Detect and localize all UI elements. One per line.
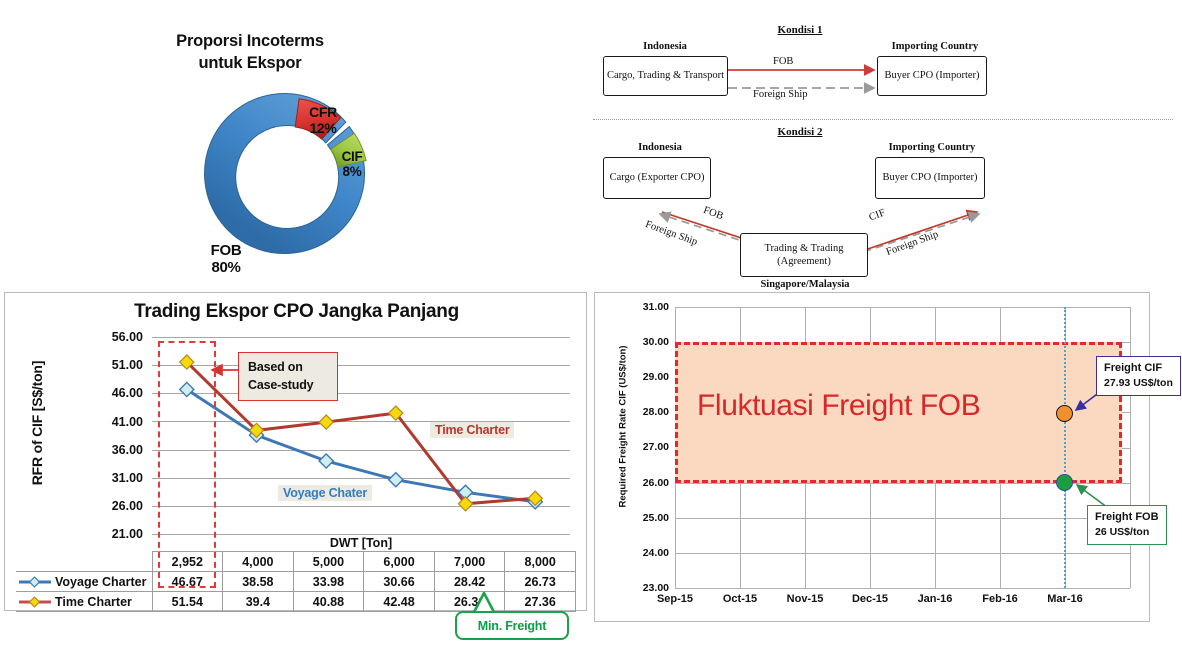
fr-x-tick-jan16: Jan-16 [900,593,970,605]
min-freight-callout: Min. Freight [455,611,569,640]
table-cell: 30.66 [364,572,435,592]
table-header-cell: 5,000 [293,552,364,572]
freight-cif-callout-title: Freight CIF [1104,361,1173,376]
table-cell: 46.67 [152,572,223,592]
table-cell: 39.4 [223,592,294,612]
donut-label-cfr-text: CFR [309,104,337,120]
table-cell: 42.48 [364,592,435,612]
time-charter-tag: Time Charter [430,422,514,438]
freight-callout-arrows [675,307,1130,588]
kondisi2-left-caption: Indonesia [585,142,735,153]
case-study-annotation: Based on Case-study [238,352,338,401]
line-chart-y-axis-title: RFR of CIF [S$/ton] [29,343,45,503]
y-tick-51: 51.00 [85,358,143,372]
y-tick-41: 41.00 [85,415,143,429]
y-tick-56: 56.00 [85,330,143,344]
donut-title-line1: Proporsi Incoterms [176,32,324,50]
diagram-divider [593,119,1173,120]
legend-label: Time Charter [55,595,132,609]
fr-y-tick-25: 25.00 [621,512,669,524]
table-cell: 33.98 [293,572,364,592]
table-header-cell: 2,952 [152,552,223,572]
fr-y-tick-26: 26.00 [621,477,669,489]
table-corner-cell [16,552,152,572]
donut-label-fob-pct: 80% [211,259,240,276]
table-cell: 38.58 [223,572,294,592]
y-tick-46: 46.00 [85,386,143,400]
donut-label-cif-pct: 8% [343,164,362,179]
y-tick-31: 31.00 [85,471,143,485]
legend-voyage-charter: Voyage Charter [16,572,152,592]
y-tick-26: 26.00 [85,499,143,513]
fr-x-tick-oct15: Oct-15 [705,593,775,605]
incoterm-diagram-panel: Kondisi 1 Indonesia Cargo, Trading & Tra… [585,0,1182,296]
y-tick-36: 36.00 [85,443,143,457]
table-header-cell: 6,000 [364,552,435,572]
fr-y-tick-27: 27.00 [621,441,669,453]
freight-chart-y-axis-title: Required Freight Rate CIF (US$/ton) [618,317,629,537]
fr-y-tick-31: 31.00 [621,301,669,313]
kondisi2-left-box: Cargo (Exporter CPO) [603,157,711,199]
donut-label-cif-text: CIF [342,149,363,164]
freight-cif-callout-value: 27.93 US$/ton [1104,376,1173,390]
donut-title-line2: untuk Ekspor [198,54,301,72]
table-cell: 27.36 [505,592,576,612]
fr-x-tick-mar16: Mar-16 [1030,593,1100,605]
freight-chart-plot-area: Fluktuasi Freight FOB [675,307,1130,588]
slide-canvas: Proporsi Incoterms untuk Ekspor [0,0,1182,665]
legend-time-charter: Time Charter [16,592,152,612]
donut-chart-panel: Proporsi Incoterms untuk Ekspor [0,0,585,285]
voyage-charter-tag: Voyage Chater [278,485,372,501]
donut-label-cif: CIF 8% [329,149,375,179]
freight-fob-callout-title: Freight FOB [1095,510,1159,525]
donut-title: Proporsi Incoterms untuk Ekspor [0,30,500,75]
time-charter-legend-icon [18,596,52,608]
y-tick-21: 21.00 [85,527,143,541]
donut-label-cfr: CFR 12% [296,105,350,136]
kondisi2-mid-caption: Singapore/Malaysia [730,279,880,290]
fr-y-tick-29: 29.00 [621,371,669,383]
kondisi1-ship-label: Foreign Ship [753,89,808,100]
donut-label-cfr-pct: 12% [309,120,336,136]
line-chart-x-axis-title: DWT [Ton] [152,536,570,550]
fr-x-tick-sep15: Sep-15 [640,593,710,605]
fr-y-tick-30: 30.00 [621,336,669,348]
kondisi2-mid-box: Trading & Trading (Agreement) [740,233,868,277]
legend-label: Voyage Charter [55,575,146,589]
kondisi2-title: Kondisi 2 [745,126,855,138]
line-chart-title: Trading Ekspor CPO Jangka Panjang [5,301,588,323]
fr-y-tick-28: 28.00 [621,406,669,418]
fr-gridline-v [1130,307,1131,588]
table-row: Voyage Charter 46.67 38.58 33.98 30.66 2… [16,572,576,592]
fr-x-tick-dec15: Dec-15 [835,593,905,605]
donut-graphic: FOB 80% CFR 12% CIF 8% [163,83,413,273]
table-row-categories: 2,952 4,000 5,000 6,000 7,000 8,000 [16,552,576,572]
voyage-charter-legend-icon [18,576,52,588]
table-header-cell: 7,000 [434,552,505,572]
donut-label-fob-text: FOB [211,242,242,259]
donut-label-fob: FOB 80% [191,243,261,277]
table-header-cell: 8,000 [505,552,576,572]
freight-cif-callout: Freight CIF 27.93 US$/ton [1096,356,1181,396]
fr-x-tick-nov15: Nov-15 [770,593,840,605]
fr-y-tick-24: 24.00 [621,547,669,559]
line-chart-panel: Trading Ekspor CPO Jangka Panjang RFR of… [4,292,587,611]
freight-fob-callout-value: 26 US$/ton [1095,525,1159,539]
table-cell: 40.88 [293,592,364,612]
freight-fob-callout: Freight FOB 26 US$/ton [1087,505,1167,545]
table-header-cell: 4,000 [223,552,294,572]
kondisi2-right-box: Buyer CPO (Importer) [875,157,985,199]
fr-x-tick-feb16: Feb-16 [965,593,1035,605]
fr-gridline [675,588,1130,589]
table-cell: 26.73 [505,572,576,592]
kondisi1-fob-label: FOB [773,56,793,67]
table-cell: 51.54 [152,592,223,612]
table-cell: 28.42 [434,572,505,592]
freight-chart-panel: Required Freight Rate CIF (US$/ton) 31.0… [594,292,1150,622]
kondisi2-right-caption: Importing Country [857,142,1007,153]
